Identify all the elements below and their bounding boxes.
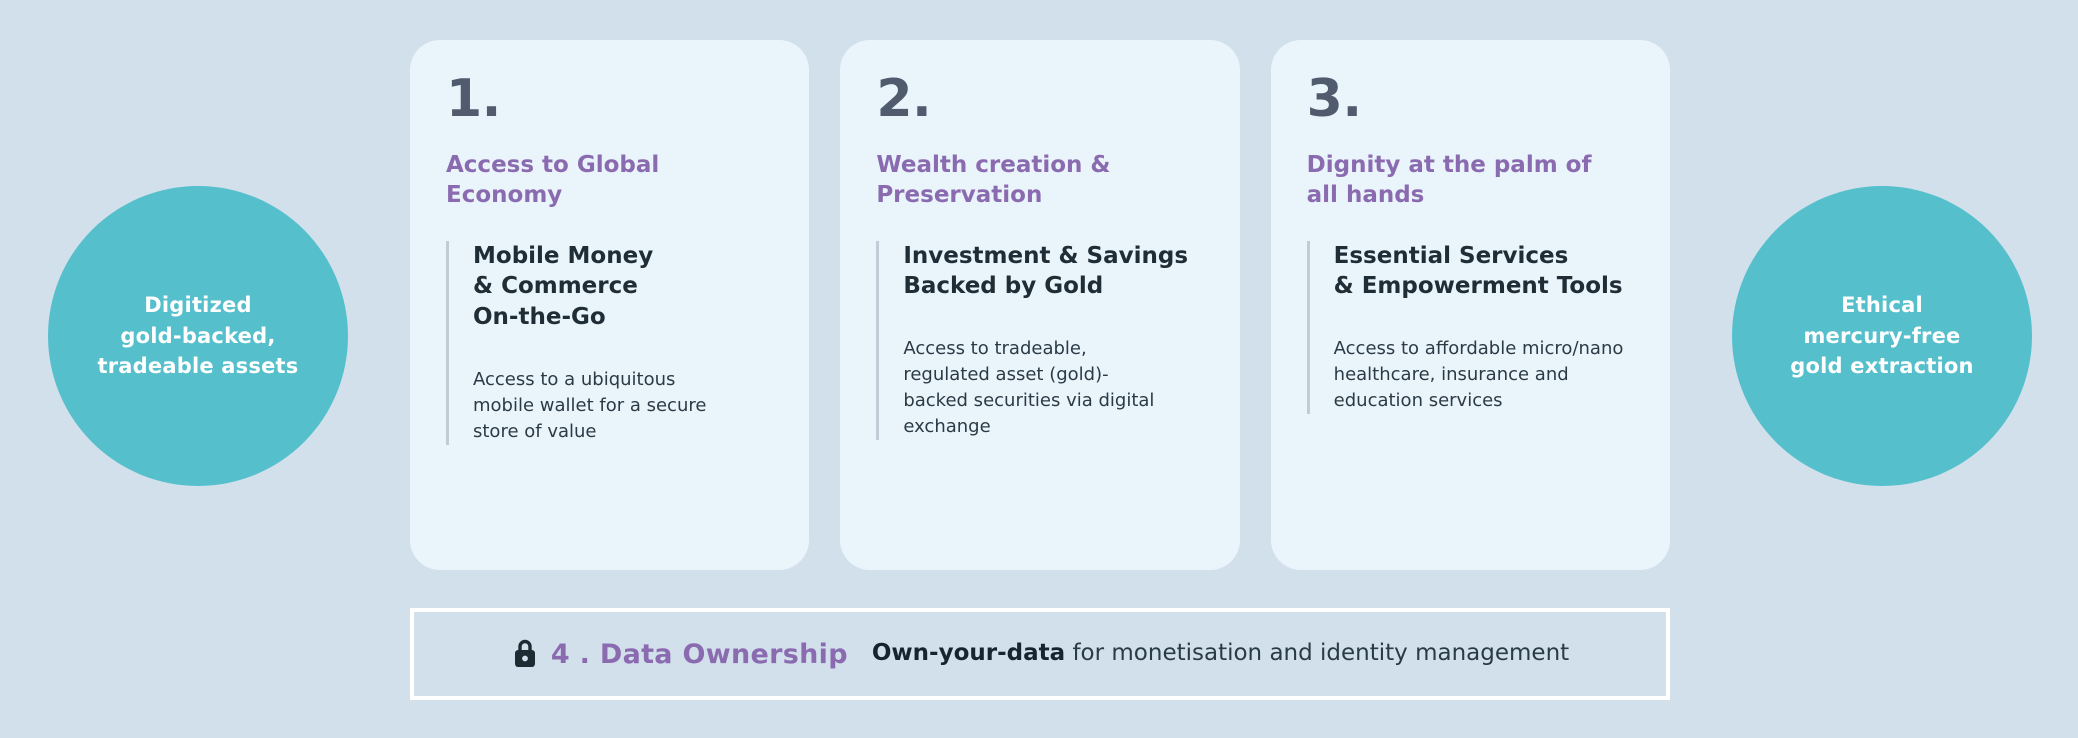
card-2-subtitle: Investment & Savings Backed by Gold [903,241,1203,302]
card-1-subtitle: Mobile Money & Commerce On-the-Go [473,241,773,333]
right-circle-label: Ethical mercury-free gold extraction [1772,290,1991,381]
pillar-card-1[interactable]: 1. Access to Global Economy Mobile Money… [410,40,809,570]
data-ownership-bar[interactable]: 4 . Data Ownership Own-your-data for mon… [410,608,1670,700]
data-ownership-text: Own-your-data for monetisation and ident… [872,640,1569,668]
card-2-number: 2. [876,73,1203,125]
card-3-title: Dignity at the palm of all hands [1307,151,1634,211]
card-3-number: 3. [1307,73,1634,125]
left-circle-label: Digitized gold-backed, tradeable assets [80,290,317,381]
card-3-description: Access to affordable micro/nano healthca… [1334,336,1634,414]
data-ownership-label: 4 . Data Ownership [551,639,848,670]
card-3-subtitle: Essential Services & Empowerment Tools [1334,241,1634,302]
card-1-title: Access to Global Economy [446,151,773,211]
card-2-description: Access to tradeable, regulated asset (go… [903,336,1203,440]
lock-icon [511,638,539,668]
card-2-title: Wealth creation & Preservation [876,151,1203,211]
data-ownership-text-bold: Own-your-data [872,640,1065,666]
diagram-canvas: Digitized gold-backed, tradeable assets … [0,0,2078,738]
pillar-card-2[interactable]: 2. Wealth creation & Preservation Invest… [840,40,1239,570]
left-circle: Digitized gold-backed, tradeable assets [48,186,348,486]
pillar-cards: 1. Access to Global Economy Mobile Money… [410,40,1670,570]
pillar-card-3[interactable]: 3. Dignity at the palm of all hands Esse… [1271,40,1670,570]
card-1-body: Mobile Money & Commerce On-the-Go Access… [446,241,773,445]
card-1-description: Access to a ubiquitous mobile wallet for… [473,367,773,445]
data-ownership-text-rest: for monetisation and identity management [1065,640,1569,666]
card-1-number: 1. [446,73,773,125]
right-circle: Ethical mercury-free gold extraction [1732,186,2032,486]
card-2-body: Investment & Savings Backed by Gold Acce… [876,241,1203,441]
card-3-body: Essential Services & Empowerment Tools A… [1307,241,1634,414]
